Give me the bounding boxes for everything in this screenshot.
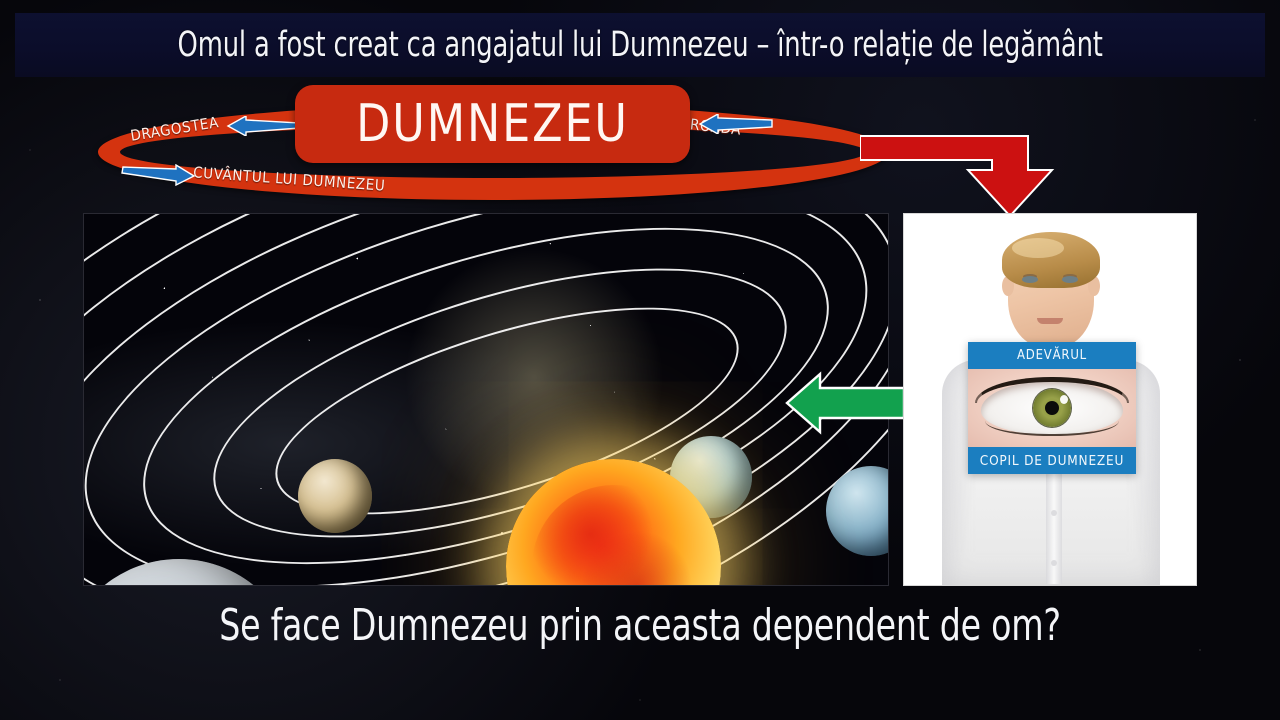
eye-upper-lashes xyxy=(975,377,1130,404)
planet-mercury xyxy=(298,459,372,533)
eye-image xyxy=(968,369,1136,447)
man-mouth xyxy=(1037,318,1063,324)
orbit-ring-7 xyxy=(84,214,888,585)
eye-pupil xyxy=(1045,401,1059,415)
arrow-right-blue-icon xyxy=(120,164,196,186)
man-eye-right xyxy=(1062,276,1078,283)
solar-system-image xyxy=(84,214,888,585)
arrow-left-blue-icon-2 xyxy=(698,114,774,134)
man-eye-left xyxy=(1022,276,1038,283)
page-title: Omul a fost creat ca angajatul lui Dumne… xyxy=(177,25,1102,65)
arrow-green-left-icon xyxy=(784,366,906,445)
man-hair xyxy=(1002,232,1100,288)
dumnezeu-plaque: DUMNEZEU xyxy=(295,85,690,163)
eye-card-top-label: ADEVĂRUL xyxy=(968,342,1136,369)
eye-lower-lashes xyxy=(985,421,1119,437)
bottom-question: Se face Dumnezeu prin aceasta dependent … xyxy=(102,600,1177,651)
man-photo-panel: ADEVĂRUL COPIL DE DUMNEZEU xyxy=(904,214,1196,585)
shirt-button xyxy=(1051,560,1057,566)
shirt-button xyxy=(1051,510,1057,516)
eye-card: ADEVĂRUL COPIL DE DUMNEZEU xyxy=(968,342,1136,474)
dumnezeu-label: DUMNEZEU xyxy=(356,94,629,154)
arrow-left-blue-icon xyxy=(226,116,302,136)
arrow-red-bent-down-icon xyxy=(860,126,1070,227)
slide-canvas: Omul a fost creat ca angajatul lui Dumne… xyxy=(0,0,1280,720)
title-band: Omul a fost creat ca angajatul lui Dumne… xyxy=(15,13,1265,77)
eye-card-bottom-label: COPIL DE DUMNEZEU xyxy=(968,447,1136,474)
